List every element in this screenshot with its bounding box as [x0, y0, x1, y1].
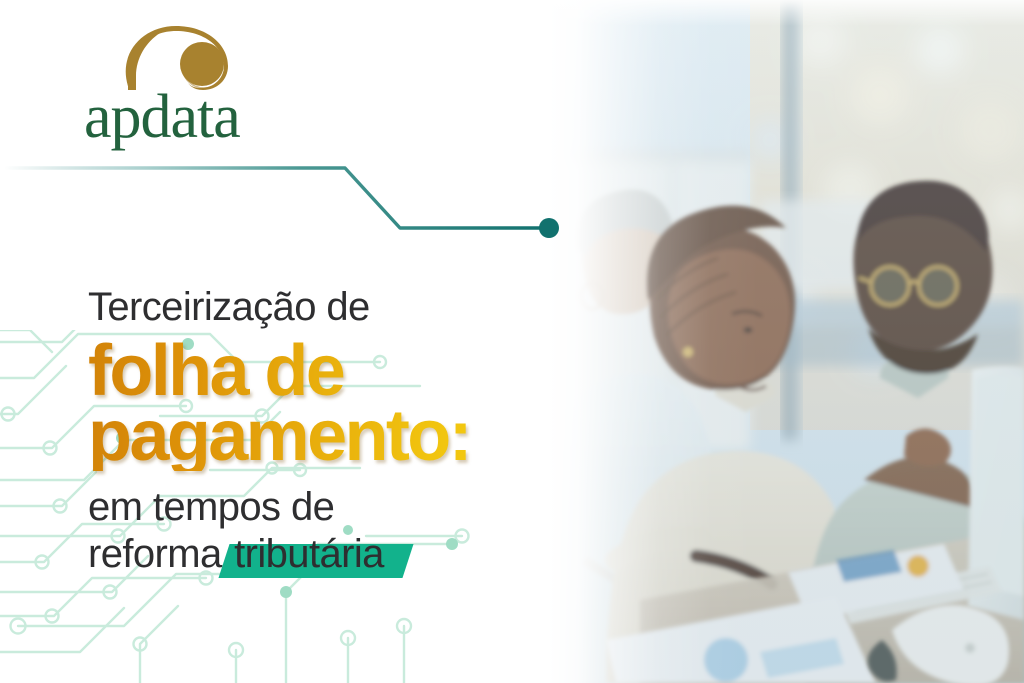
headline-line-2: pagamento:	[88, 401, 528, 472]
office-team-photo	[520, 0, 1024, 683]
subline-row-2: reforma tributária	[88, 532, 528, 577]
apdata-swirl-icon	[114, 24, 234, 92]
apdata-logo[interactable]: apdata	[84, 24, 284, 136]
subline-prefix: reforma	[88, 532, 232, 576]
headline-block: Terceirização de folha de pagamento: em …	[88, 286, 528, 577]
promotional-banner: apdata Terceirização de folha de pagamen…	[0, 0, 1024, 683]
highlighted-term: tributária	[232, 532, 386, 577]
headline-subline: em tempos de reforma tributária	[88, 485, 528, 577]
photo-panel	[520, 0, 1024, 683]
subline-row-1: em tempos de	[88, 485, 334, 529]
headline-eyebrow: Terceirização de	[88, 286, 528, 328]
top-connector-line	[0, 150, 580, 260]
apdata-wordmark: apdata	[84, 86, 240, 148]
highlight-label: tributária	[234, 532, 384, 576]
